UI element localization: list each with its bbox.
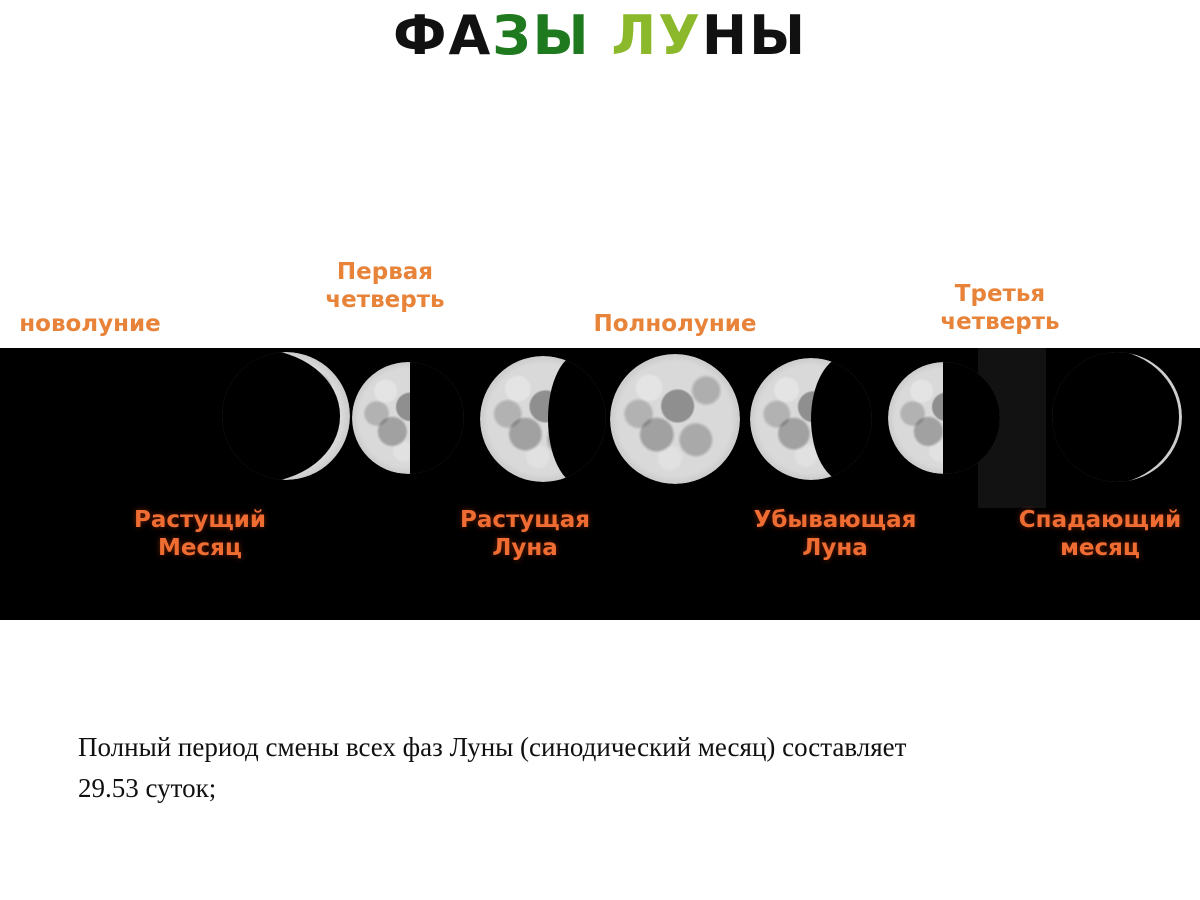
caption: Полный период смены всех фаз Луны (синод… — [78, 727, 1138, 809]
title-segment-fa: ФА — [393, 4, 492, 67]
label-full-moon: Полнолуние — [570, 310, 780, 338]
moon-full-moon — [610, 354, 740, 484]
label-third-quarter: Третья четверть — [900, 280, 1100, 336]
caption-line-1: Полный период смены всех фаз Луны (синод… — [78, 727, 1138, 768]
title-segment-ny: НЫ — [702, 4, 807, 67]
moon-waning-crescent — [1052, 352, 1182, 482]
label-new-moon: новолуние — [0, 310, 180, 338]
moon-shadow — [811, 358, 872, 480]
moon-shadow — [548, 356, 606, 482]
label-waxing-gibbous: Растущая Луна — [430, 506, 620, 562]
moon-new-moon — [78, 356, 198, 476]
caption-line-2: 29.53 суток; — [78, 768, 1138, 809]
moon-third-quarter — [888, 362, 1000, 474]
title-segment-lu: ЛУ — [611, 4, 701, 67]
moon-waning-gibbous — [750, 358, 872, 480]
label-waning-gibbous: Убывающая Луна — [735, 506, 935, 562]
page-title: ФАЗЫ ЛУНЫ — [0, 8, 1200, 65]
label-first-quarter: Первая четверть — [290, 258, 480, 314]
label-waxing-crescent: Растущий Месяц — [110, 506, 290, 562]
title-segment-zy: ЗЫ — [492, 4, 590, 67]
faint-artifact-text — [200, 833, 620, 851]
moon-phase-strip: Растущий Месяц Растущая Луна Убывающая Л… — [0, 348, 1200, 620]
moon-shadow — [410, 362, 464, 474]
moon-first-quarter — [352, 362, 464, 474]
moon-disc — [610, 354, 740, 484]
title-segment-space — [591, 4, 612, 67]
label-waning-crescent: Спадающий месяц — [1000, 506, 1200, 562]
moon-waxing-crescent — [222, 352, 350, 480]
moon-waxing-gibbous — [480, 356, 606, 482]
slide: ФАЗЫ ЛУНЫ новолуние Первая четверть Полн… — [0, 0, 1200, 900]
moon-shadow — [943, 362, 1000, 474]
